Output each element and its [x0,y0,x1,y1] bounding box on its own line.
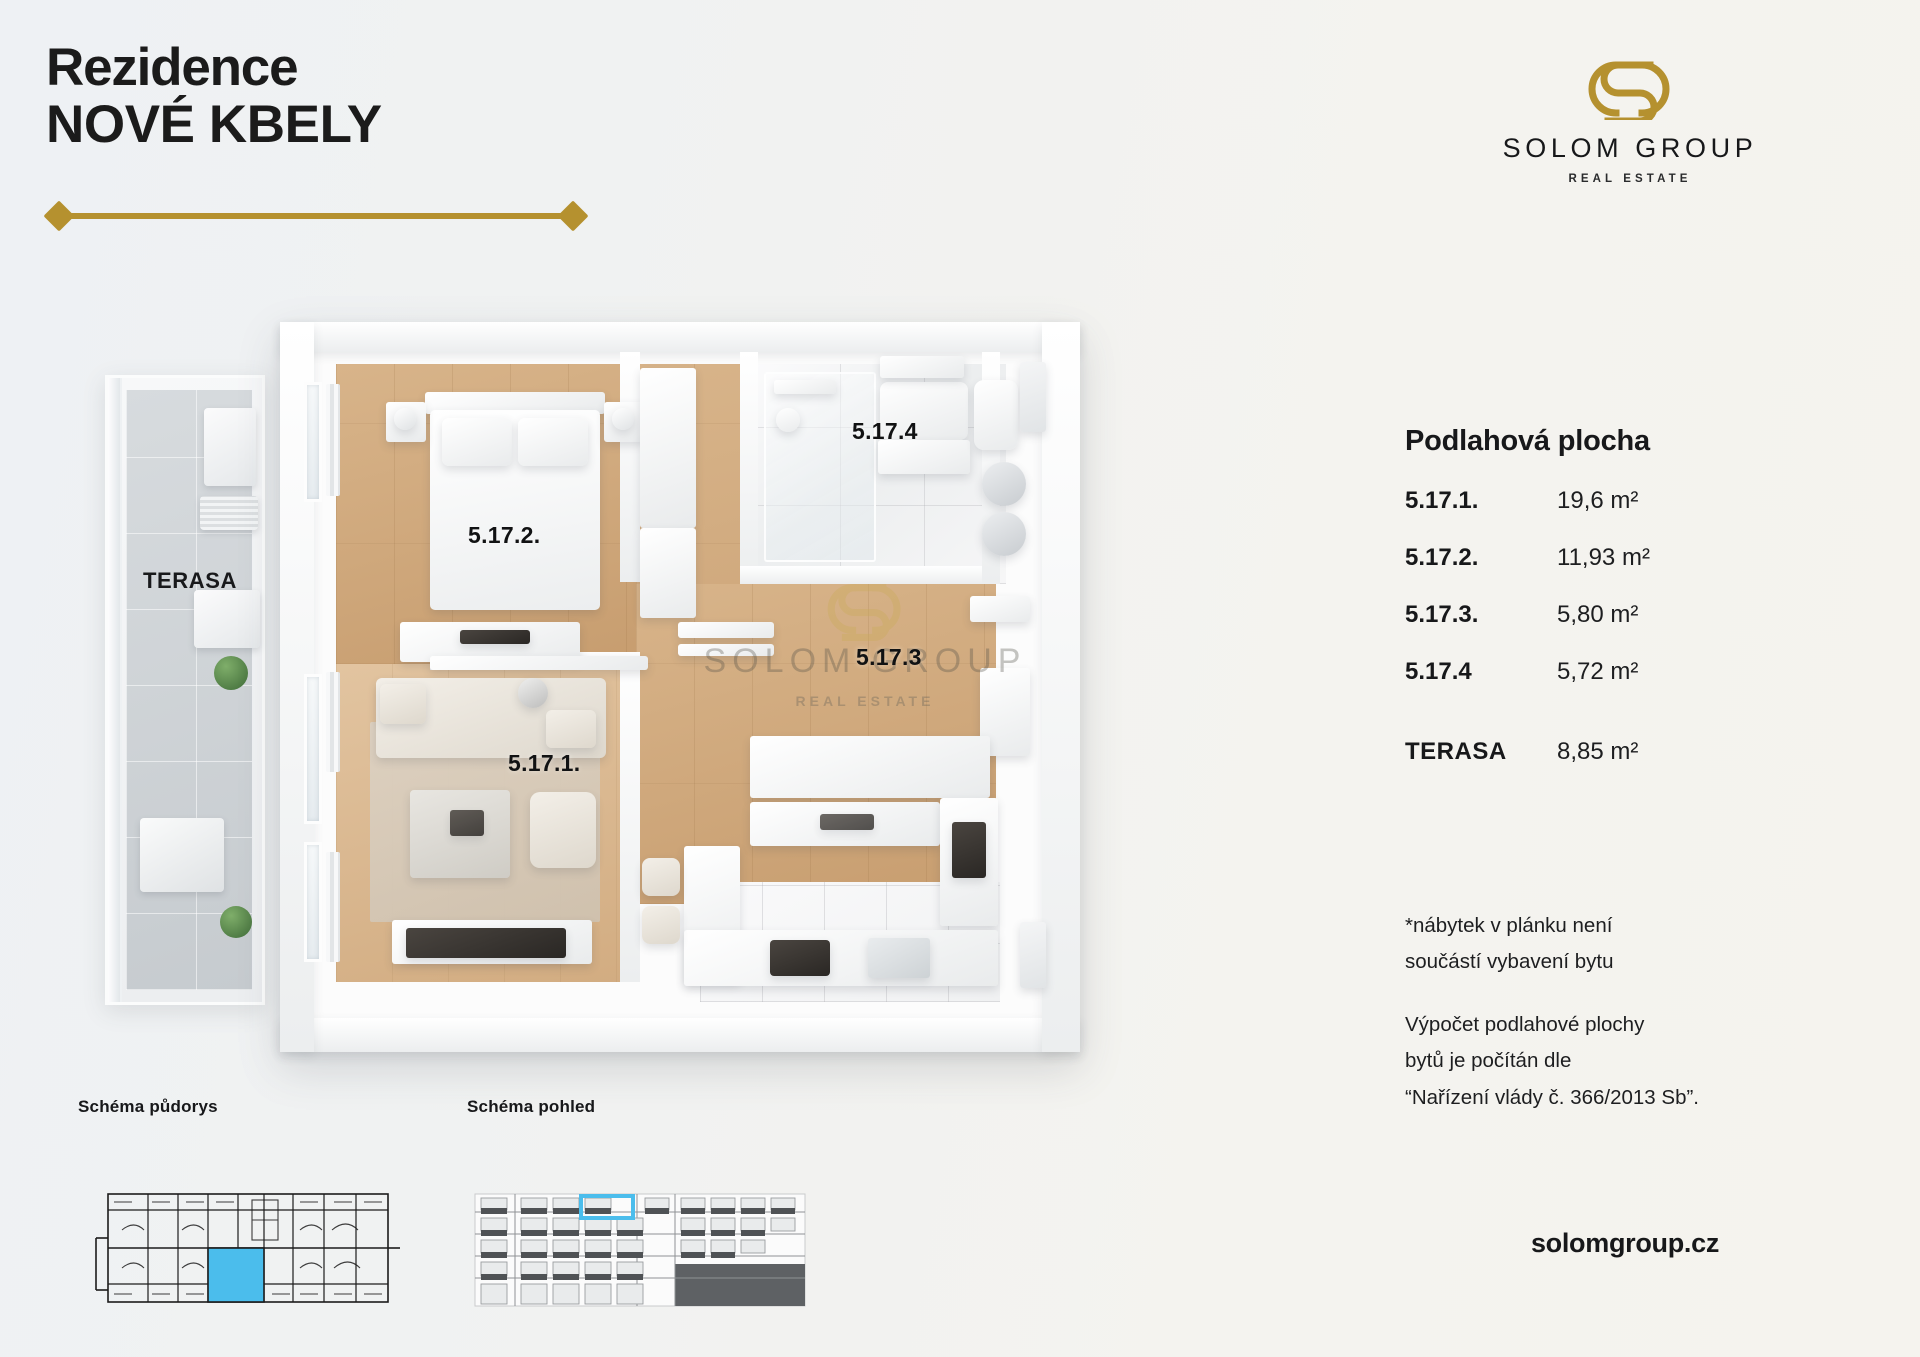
wall-niche [1020,922,1046,988]
schema-elevation-thumbnail[interactable] [467,1172,822,1312]
area-code: 5.17.2. [1405,544,1557,572]
hall-shelf [970,596,1030,622]
radiator [326,852,340,962]
schema-highlighted-unit [208,1248,264,1302]
television [460,630,530,644]
wall-top [280,322,1080,352]
shower-tray [774,380,836,394]
schema-elevation-svg [467,1172,822,1312]
area-value: 5,80 m² [1557,601,1638,629]
kitchen-upper-cabinets [750,736,990,798]
brand-logo: SOLOM GROUP REAL ESTATE [1480,58,1780,185]
armchair [530,792,596,868]
terrace-code: TERASA [1405,738,1557,766]
area-value: 11,93 m² [1557,544,1650,572]
page-title-line-1: Rezidence [46,40,382,96]
mirror [880,356,964,378]
divider-diamond-right [557,200,588,231]
room-label-hall: 5.17.3 [856,644,922,671]
area-value: 19,6 m² [1557,487,1638,515]
bar-stool [642,906,680,944]
window [304,382,322,502]
area-panel: Podlahová plocha 5.17.1. 19,6 m² 5.17.2.… [1405,425,1845,766]
wall-right [1042,322,1080,1052]
wall-interior [620,652,640,982]
divider-bar [59,213,571,219]
schema-plan-title: Schéma půdorys [78,1097,218,1117]
terrace-railing [108,378,122,1002]
floorplan-render: TERASA [95,300,1180,1075]
room-label-bathroom: 5.17.4 [852,418,918,445]
brand-name: SOLOM GROUP [1480,133,1780,164]
hall-shelf [678,644,774,656]
terrace-furniture [194,590,260,648]
note-calculation-line-3: “Nařízení vlády č. 366/2013 Sb”. [1405,1080,1855,1116]
toilet [974,380,1018,450]
terrace-plant [214,656,248,690]
radiator [326,672,340,772]
cooktop [770,940,830,976]
area-row: 5.17.3. 5,80 m² [1405,601,1845,629]
window [304,674,322,824]
brand-subtitle: REAL ESTATE [1480,173,1780,185]
floor-lamp [518,678,548,708]
wall-interior [740,566,1000,584]
terrace-value: 8,85 m² [1557,738,1638,766]
terrace-area [105,375,265,1005]
wall-niche [1020,362,1046,432]
bar-stool [642,858,680,896]
sink-kitchen [868,938,930,978]
room-label-living: 5.17.1. [508,750,580,777]
schema-floorplan-svg [78,1172,418,1312]
terrace-label: TERASA [115,568,265,594]
wall-bottom [280,1018,1080,1052]
wall-interior [740,352,758,584]
room-label-bedroom: 5.17.2. [468,522,540,549]
sofa-cushion [380,684,426,724]
schema-view-title: Schéma pohled [467,1097,595,1117]
area-row: 5.17.1. 19,6 m² [1405,487,1845,515]
area-panel-heading: Podlahová plocha [1405,425,1845,458]
notes-block: *nábytek v plánku není součástí vybavení… [1405,908,1855,1116]
schema-floorplan-thumbnail[interactable] [78,1172,418,1312]
pillow [442,418,512,466]
area-code: 5.17.4 [1405,658,1557,686]
coffee-table-decor [450,810,484,836]
oven [952,822,986,878]
shower-enclosure [764,372,876,562]
radiator [326,384,340,496]
page-title-line-2: NOVÉ KBELY [46,96,382,153]
lamp [612,408,634,430]
kitchen-run [684,930,998,986]
terrace-furniture [204,408,256,486]
area-code: 5.17.1. [1405,487,1557,515]
website-link[interactable]: solomgroup.cz [1405,1228,1845,1259]
dryer [982,512,1026,556]
lamp [394,408,416,430]
apartment-shell: 5.17.2. 5.17.1. 5.17.4 5.17.3 [280,322,1080,1052]
area-row-terrace: TERASA 8,85 m² [1405,738,1845,766]
vanity-unit [878,440,970,474]
page-title: Rezidence NOVÉ KBELY [46,40,382,153]
terrace-plant [220,906,252,938]
window [304,842,322,962]
partition-shelf [430,656,648,670]
hall-shelf [678,622,774,638]
title-divider [45,205,585,227]
kitchen-appliance [820,814,874,830]
washing-machine [982,462,1026,506]
shower-head [776,408,800,432]
area-row: 5.17.2. 11,93 m² [1405,544,1845,572]
area-code: 5.17.3. [1405,601,1557,629]
terrace-furniture [200,496,258,530]
area-row: 5.17.4 5,72 m² [1405,658,1845,686]
area-value: 5,72 m² [1557,658,1638,686]
note-furniture-line-2: součástí vybavení bytu [1405,944,1855,980]
sideboard-top [406,928,566,958]
wardrobe [640,528,696,618]
sofa-cushion [546,710,596,748]
solom-monogram-icon [1480,58,1780,120]
terrace-furniture [140,818,224,892]
pillow [518,418,588,466]
wardrobe [640,368,696,528]
note-calculation-line-1: Výpočet podlahové plochy [1405,1007,1855,1043]
note-calculation-line-2: bytů je počítán dle [1405,1043,1855,1079]
note-furniture-line-1: *nábytek v plánku není [1405,908,1855,944]
wall-interior [620,352,640,582]
